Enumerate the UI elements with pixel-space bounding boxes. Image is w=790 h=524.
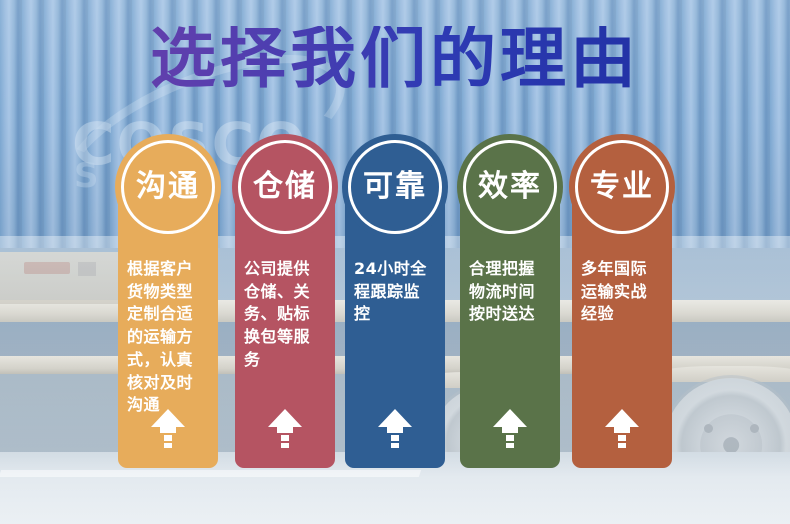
feature-badge-professional[interactable]: 专业 [569, 134, 675, 240]
feature-column-text: 多年国际运输实战经验 [581, 258, 663, 326]
up-arrow-icon [603, 408, 641, 452]
feature-column-text: 公司提供仓储、关务、贴标换包等服务 [244, 258, 326, 372]
feature-column-efficiency[interactable]: 效率合理把握物流时间按时送达 [460, 186, 560, 468]
feature-badge-label: 专业 [590, 172, 654, 202]
feature-badge-label: 效率 [478, 172, 542, 202]
up-arrow-icon [491, 408, 529, 452]
up-arrow-icon [376, 408, 414, 452]
feature-column-text: 根据客户货物类型定制合适的运输方式，认真核对及时沟通 [127, 258, 209, 417]
feature-badge-warehousing[interactable]: 仓储 [232, 134, 338, 240]
feature-column-reliable[interactable]: 可靠24小时全程跟踪监控 [345, 186, 445, 468]
feature-column-professional[interactable]: 专业多年国际运输实战经验 [572, 186, 672, 468]
feature-badge-label: 仓储 [253, 172, 317, 202]
feature-badge-reliable[interactable]: 可靠 [342, 134, 448, 240]
up-arrow-icon [266, 408, 304, 452]
feature-column-communication[interactable]: 沟通根据客户货物类型定制合适的运输方式，认真核对及时沟通 [118, 186, 218, 468]
feature-columns: 沟通根据客户货物类型定制合适的运输方式，认真核对及时沟通仓储公司提供仓储、关务、… [0, 0, 790, 524]
feature-badge-label: 沟通 [136, 172, 200, 202]
up-arrow-icon [149, 408, 187, 452]
feature-column-warehousing[interactable]: 仓储公司提供仓储、关务、贴标换包等服务 [235, 186, 335, 468]
feature-column-text: 合理把握物流时间按时送达 [469, 258, 551, 326]
feature-badge-communication[interactable]: 沟通 [115, 134, 221, 240]
feature-column-text: 24小时全程跟踪监控 [354, 258, 436, 326]
feature-badge-efficiency[interactable]: 效率 [457, 134, 563, 240]
infographic-banner: COSCO S 选择我们的理由 沟通根据客户货物类型定制合适的运输方式，认真核对… [0, 0, 790, 524]
feature-badge-label: 可靠 [363, 172, 427, 202]
